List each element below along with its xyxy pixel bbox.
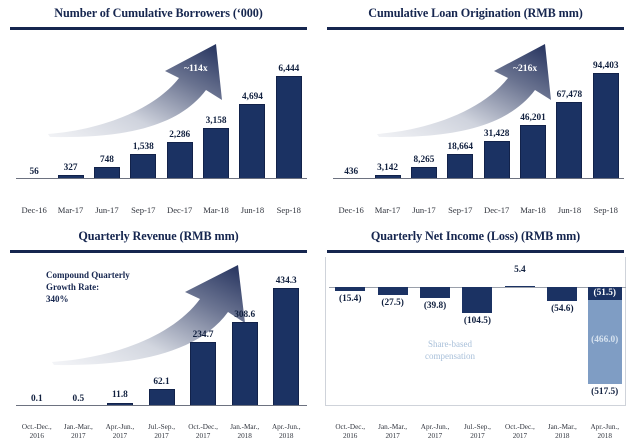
x-tick-label: Jan.-Mar., 2017 (371, 423, 413, 440)
x-axis-labels-revenue: Oct.-Dec., 2016 Jan.-Mar., 2017 Apr.-Jun… (16, 423, 307, 440)
bar-value-label: 748 (100, 155, 114, 165)
slide-canvas: Number of Cumulative Borrowers (‘000) ~1… (0, 0, 634, 446)
x-tick-label: Oct.-Dec., 2016 (16, 423, 58, 440)
x-tick-label: Apr.-Jun., 2017 (414, 423, 456, 440)
bar-item: 327 (52, 36, 88, 179)
title-divider (327, 250, 624, 253)
chart-panel-revenue: Quarterly Revenue (RMB mm) Compound Quar… (0, 223, 317, 446)
bar-rect-netincome (462, 287, 492, 313)
x-tick-line-1: Apr.-Jun., (414, 423, 456, 431)
bar-rect (149, 389, 175, 406)
x-tick-line-1: Jan.-Mar., (541, 423, 583, 431)
bar-item: 5.4 (499, 263, 541, 404)
bar-value-label: 0.1 (31, 394, 43, 404)
bar-item: 46,201 (515, 36, 551, 179)
bar-rect (520, 125, 546, 179)
bar-value-label: 94,403 (593, 61, 619, 71)
x-tick-line-2: 2017 (99, 432, 141, 440)
x-tick-label: Oct.-Dec., 2017 (499, 423, 541, 440)
bar-value-label: 46,201 (520, 113, 546, 123)
x-tick-label: Oct.-Dec., 2017 (182, 423, 224, 440)
bar-item: 8,265 (406, 36, 442, 179)
x-tick-label: Oct.-Dec., 2016 (329, 423, 371, 440)
bar-rect (273, 288, 299, 406)
bar-value-label: 0.5 (73, 394, 85, 404)
bar-series-revenue: 0.1 0.5 11.8 62.1 234.7 (16, 259, 307, 406)
bar-item: 234.7 (182, 259, 224, 406)
bar-item: (15.4) (329, 263, 371, 404)
x-tick-line-1: Oct.-Dec., (16, 423, 58, 431)
x-axis-line (333, 178, 624, 179)
bar-total-label: (517.5) (591, 387, 618, 397)
bar-series-borrowers: 56 327 748 1,538 2,286 (16, 36, 307, 179)
bar-value-label: 4,694 (242, 92, 263, 102)
bar-item: 67,478 (551, 36, 587, 179)
bar-item: 6,444 (271, 36, 307, 179)
chart-panel-origination: Cumulative Loan Origination (RMB mm) ~21… (317, 0, 634, 223)
sbc-annotation: Share-based compensation (425, 339, 475, 362)
bar-value-label: 5.4 (514, 265, 526, 275)
bar-value-label: 434.3 (276, 276, 297, 286)
x-tick-label: Apr.-Jun., 2018 (265, 423, 307, 440)
bar-rect (167, 142, 193, 179)
bar-value-label-net: (51.5) (594, 288, 616, 298)
sbc-line-2: compensation (425, 351, 475, 363)
x-tick-line-1: Apr.-Jun., (99, 423, 141, 431)
bar-rect (239, 104, 265, 179)
bar-rect-netincome (335, 287, 365, 291)
x-tick-label: Jun-18 (234, 205, 270, 215)
x-tick-label: Jun-17 (89, 205, 125, 215)
bar-item: 94,403 (588, 36, 624, 179)
x-tick-label: Sep-17 (125, 205, 161, 215)
x-tick-line-2: 2017 (141, 432, 183, 440)
x-tick-line-2: 2017 (414, 432, 456, 440)
bar-value-label: 234.7 (193, 330, 214, 340)
bar-rect-netincome (505, 286, 535, 287)
bar-item: 31,428 (479, 36, 515, 179)
x-tick-label: Apr.-Jun., 2017 (99, 423, 141, 440)
x-tick-line-2: 2018 (541, 432, 583, 440)
bar-value-label: 3,142 (377, 163, 398, 173)
bar-item: (54.6) (541, 263, 583, 404)
x-tick-label: Mar-17 (369, 205, 405, 215)
bar-value-label: 11.8 (112, 390, 128, 400)
x-axis-labels-netincome: Oct.-Dec., 2016 Jan.-Mar., 2017 Apr.-Jun… (329, 423, 626, 440)
bar-item: 11.8 (99, 259, 141, 406)
x-tick-label: Jan.-Mar., 2017 (58, 423, 100, 440)
x-tick-label: Jul.-Sep., 2017 (456, 423, 498, 440)
x-tick-line-2: 2018 (584, 432, 626, 440)
x-tick-line-1: Apr.-Jun., (584, 423, 626, 431)
bar-item: 4,694 (234, 36, 270, 179)
x-tick-line-2: 2018 (224, 432, 266, 440)
bar-item: 3,158 (198, 36, 234, 179)
x-axis-line (16, 405, 307, 406)
bar-value-label: (39.8) (424, 301, 446, 311)
bar-rect (276, 76, 302, 179)
bar-value-label: 8,265 (413, 155, 434, 165)
bar-value-label: 3,158 (206, 116, 227, 126)
bar-item: 1,538 (125, 36, 161, 179)
x-tick-label: Jul.-Sep., 2017 (141, 423, 183, 440)
bar-rect (203, 128, 229, 179)
x-tick-line-2: 2018 (265, 432, 307, 440)
x-tick-label: Sep-18 (588, 205, 624, 215)
x-tick-label: Jan.-Mar., 2018 (541, 423, 583, 440)
x-tick-label: Dec-16 (333, 205, 369, 215)
x-tick-label: Sep-17 (442, 205, 478, 215)
x-tick-line-1: Oct.-Dec., (499, 423, 541, 431)
bar-value-label: (54.6) (551, 304, 573, 314)
bar-series-origination: 436 3,142 8,265 18,664 31,428 (333, 36, 624, 179)
bar-rect (130, 154, 156, 179)
x-tick-label: Mar-18 (515, 205, 551, 215)
bar-rect (556, 102, 582, 179)
plot-area-netincome: (15.4) (27.5) (39.8) (104.5) 5.4 (329, 263, 626, 404)
bar-rect-netincome (378, 287, 408, 295)
x-tick-line-1: Jan.-Mar., (371, 423, 413, 431)
bar-value-label: 2,286 (169, 130, 190, 140)
bar-value-label: (104.5) (464, 316, 491, 326)
x-tick-line-2: 2017 (182, 432, 224, 440)
x-tick-line-2: 2016 (329, 432, 371, 440)
x-tick-line-2: 2017 (371, 432, 413, 440)
title-divider (327, 27, 624, 30)
bar-item: 436 (333, 36, 369, 179)
bar-item: (104.5) (456, 263, 498, 404)
x-tick-label: Dec-17 (162, 205, 198, 215)
plot-area-borrowers: ~114x 56 327 748 1,538 (16, 36, 307, 179)
x-tick-line-1: Jul.-Sep., (141, 423, 183, 431)
bar-value-label: (27.5) (381, 298, 403, 308)
x-tick-line-1: Oct.-Dec., (182, 423, 224, 431)
chart-panel-netincome: Quarterly Net Income (Loss) (RMB mm) (15… (317, 223, 634, 446)
x-tick-label: Dec-17 (479, 205, 515, 215)
bar-value-label-sbc: (466.0) (591, 335, 618, 345)
bar-rect-netincome (420, 287, 450, 298)
x-tick-line-1: Apr.-Jun., (265, 423, 307, 431)
bar-item: 308.6 (224, 259, 266, 406)
bar-rect (593, 73, 619, 179)
plot-area-revenue: Compound Quarterly Growth Rate: 340% 0.1… (16, 259, 307, 406)
x-tick-label: Jun-18 (551, 205, 587, 215)
x-tick-label: Jan.-Mar., 2018 (224, 423, 266, 440)
page-title-netincome: Quarterly Net Income (Loss) (RMB mm) (325, 229, 626, 244)
title-divider (10, 27, 307, 30)
x-tick-label: Dec-16 (16, 205, 52, 215)
x-tick-line-1: Jan.-Mar., (58, 423, 100, 431)
x-tick-line-2: 2017 (499, 432, 541, 440)
x-axis-labels-origination: Dec-16 Mar-17 Jun-17 Sep-17 Dec-17 Mar-1… (333, 205, 624, 215)
bar-value-label: 327 (64, 163, 78, 173)
chart-panel-borrowers: Number of Cumulative Borrowers (‘000) ~1… (0, 0, 317, 223)
x-axis-line (16, 178, 307, 179)
bar-value-label: 67,478 (557, 90, 583, 100)
page-title-origination: Cumulative Loan Origination (RMB mm) (325, 6, 626, 21)
bar-value-label: 1,538 (133, 142, 154, 152)
x-tick-line-2: 2017 (58, 432, 100, 440)
bar-value-label: 56 (30, 167, 39, 177)
bar-item: (27.5) (371, 263, 413, 404)
x-tick-line-1: Jan.-Mar., (224, 423, 266, 431)
x-tick-label: Mar-18 (198, 205, 234, 215)
x-axis-labels-borrowers: Dec-16 Mar-17 Jun-17 Sep-17 Dec-17 Mar-1… (16, 205, 307, 215)
bar-item: 434.3 (265, 259, 307, 406)
x-tick-line-1: Jul.-Sep., (456, 423, 498, 431)
page-title-revenue: Quarterly Revenue (RMB mm) (8, 229, 309, 244)
bar-rect (232, 322, 258, 406)
x-tick-label: Apr.-Jun., 2018 (584, 423, 626, 440)
bar-rect (447, 154, 473, 179)
sbc-line-1: Share-based (425, 339, 475, 351)
bar-value-label: (15.4) (339, 294, 361, 304)
x-tick-label: Mar-17 (52, 205, 88, 215)
plot-area-origination: ~216x 436 3,142 8,265 18,664 (333, 36, 624, 179)
bar-item: 18,664 (442, 36, 478, 179)
page-title-borrowers: Number of Cumulative Borrowers (‘000) (8, 6, 309, 21)
bar-item: 0.5 (58, 259, 100, 406)
bar-value-label: 436 (344, 167, 358, 177)
x-tick-line-2: 2016 (16, 432, 58, 440)
bar-value-label: 6,444 (278, 64, 299, 74)
bar-value-label: 308.6 (234, 310, 255, 320)
bar-value-label: 18,664 (448, 142, 474, 152)
x-tick-label: Sep-18 (271, 205, 307, 215)
bar-item: 3,142 (369, 36, 405, 179)
x-tick-label: Jun-17 (406, 205, 442, 215)
bar-item: 748 (89, 36, 125, 179)
x-tick-line-1: Oct.-Dec., (329, 423, 371, 431)
bar-rect (484, 141, 510, 179)
bar-item: (39.8) (414, 263, 456, 404)
x-tick-line-2: 2017 (456, 432, 498, 440)
bar-series-netincome: (15.4) (27.5) (39.8) (104.5) 5.4 (329, 263, 626, 404)
bar-item: 56 (16, 36, 52, 179)
bar-item: 0.1 (16, 259, 58, 406)
bar-item: (51.5) (466.0) (517.5) (584, 263, 626, 404)
bar-value-label: 62.1 (153, 377, 169, 387)
bar-rect (190, 342, 216, 406)
bar-value-label: 31,428 (484, 129, 510, 139)
title-divider (10, 250, 307, 253)
bar-item: 2,286 (162, 36, 198, 179)
bar-item: 62.1 (141, 259, 183, 406)
bar-rect-netincome (547, 287, 577, 301)
